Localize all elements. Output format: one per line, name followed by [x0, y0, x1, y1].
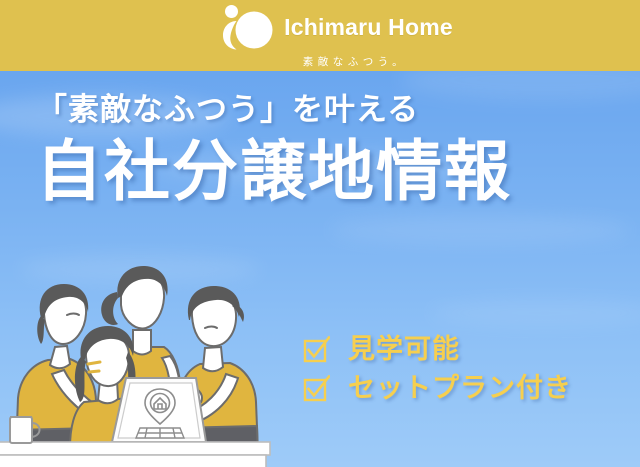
cloud-wisp — [330, 215, 630, 245]
header-band: Ichimaru Home 素敵なふつう。 — [0, 0, 640, 71]
land-lots-grid — [136, 428, 184, 438]
feature-item-set-plan-included: セットプラン付き — [303, 375, 572, 402]
brand-name: Ichimaru Home — [284, 16, 453, 39]
hero-title: 自社分譲地情報 — [36, 137, 512, 207]
feature-item-tour-available: 見学可能 — [303, 336, 572, 363]
brand-tagline: 素敵なふつう。 — [303, 57, 407, 68]
hero-headings: 「素敵なふつう」を叶える 自社分譲地情報 — [36, 92, 512, 207]
promo-banner: Ichimaru Home 素敵なふつう。 — [0, 0, 640, 467]
brand-row: Ichimaru Home — [219, 4, 453, 52]
illustration-svg — [0, 252, 300, 467]
feature-label: セットプラン付き — [348, 375, 572, 402]
team-around-laptop-illustration — [0, 252, 300, 467]
hero-subheading: 「素敵なふつう」を叶える — [36, 92, 512, 128]
ichimaru-circle-logo-icon — [219, 4, 275, 52]
laptop — [112, 378, 206, 442]
brand-block: Ichimaru Home 素敵なふつう。 — [219, 4, 453, 68]
checkbox-checked-icon — [303, 336, 330, 363]
feature-label: 見学可能 — [348, 336, 460, 363]
checkbox-checked-icon — [303, 375, 330, 402]
feature-checklist: 見学可能 セットプラン付き — [303, 336, 572, 402]
white-desk — [0, 442, 270, 467]
